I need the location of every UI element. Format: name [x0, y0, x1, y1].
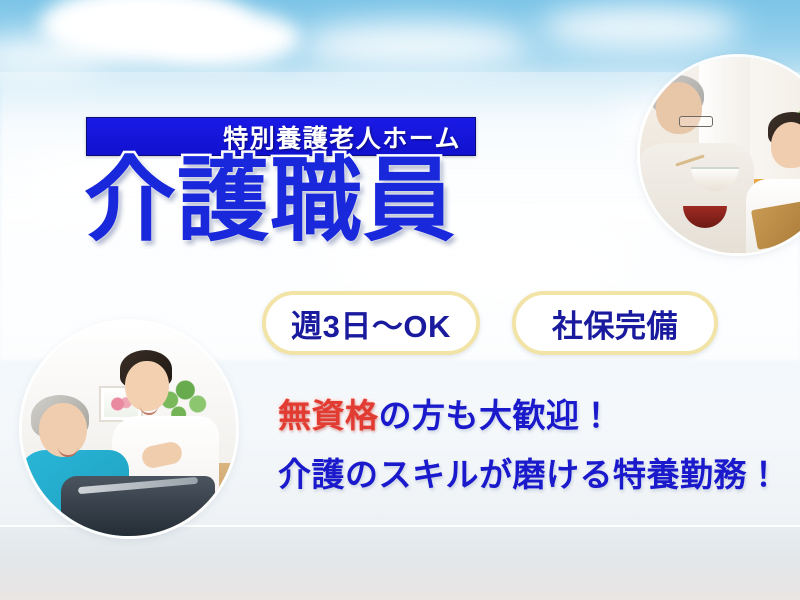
bottom-band: [0, 525, 800, 600]
tagline-rest: の方も大歓迎！: [379, 397, 614, 434]
badge-weekly-schedule: 週3日〜OK: [262, 291, 480, 355]
badge-social-insurance: 社保完備: [512, 291, 718, 355]
photo-scene: [22, 322, 236, 536]
wheelchair-care-photo: [22, 322, 236, 536]
cloud-shape: [150, 10, 300, 66]
badge-label: 週3日〜OK: [291, 301, 451, 346]
badge-label: 社保完備: [552, 301, 678, 346]
job-advertisement-banner: 特別養護老人ホーム 介護職員 週3日〜OK 社保完備 無資格の方も大歓迎！ 介護…: [0, 0, 800, 600]
staff-head-shape: [125, 361, 169, 411]
clipboard-shape: [751, 200, 800, 249]
tagline-line-1: 無資格の方も大歓迎！: [278, 389, 613, 437]
glasses-shape: [679, 116, 713, 127]
tagline-highlight: 無資格: [278, 397, 379, 434]
page-title: 介護職員: [84, 152, 504, 251]
cloud-shape: [540, 6, 740, 50]
tagline-line-2: 介護のスキルが磨ける特養勤務！: [278, 448, 781, 496]
photo-scene: [640, 57, 800, 253]
meal-assistance-photo: [640, 57, 800, 253]
